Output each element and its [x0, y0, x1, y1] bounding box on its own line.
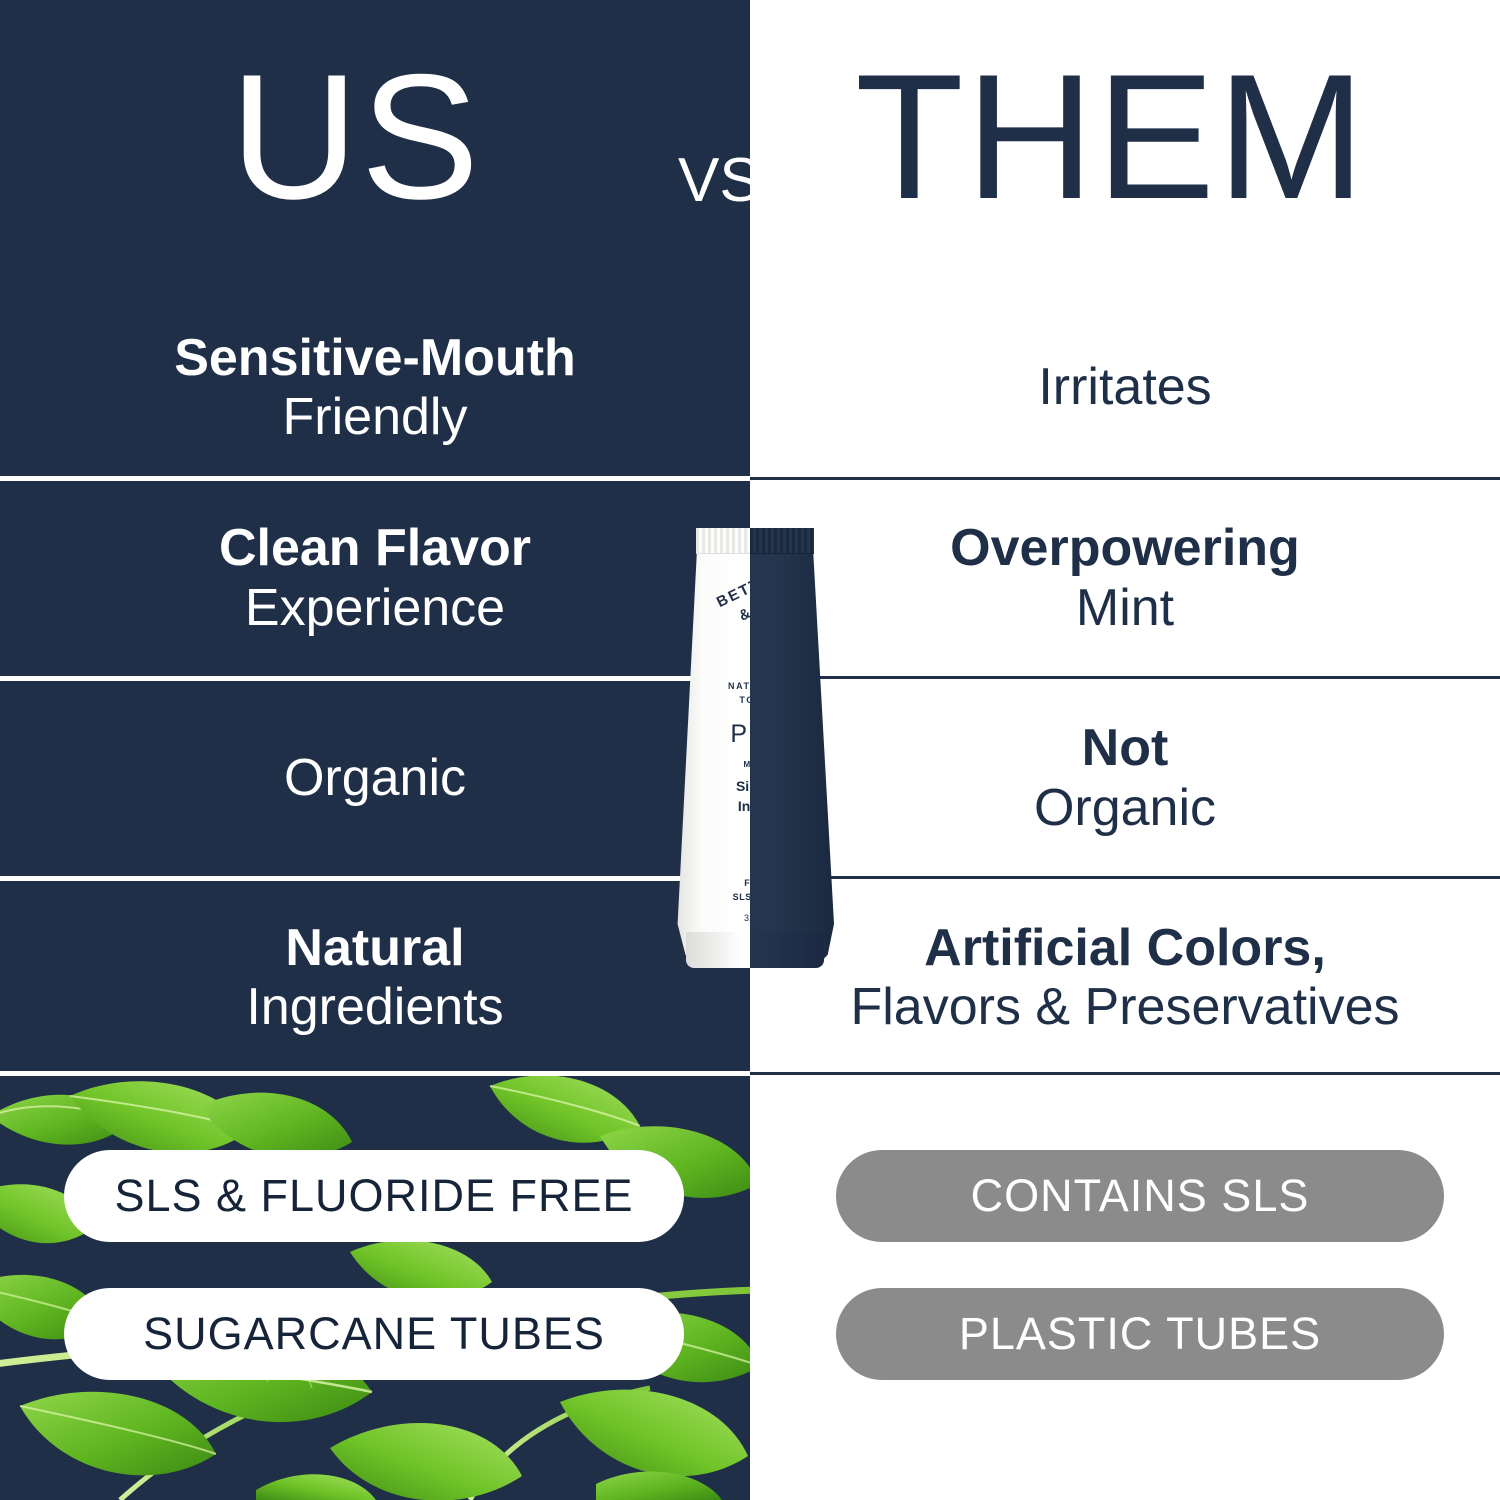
row-2-us-cell: Clean Flavor Experience	[0, 481, 750, 676]
row-separator-right	[750, 876, 1500, 879]
row-1-them-cell: Irritates	[750, 300, 1500, 476]
row-3-them-light: Organic	[1034, 779, 1216, 838]
row-separator-right	[750, 676, 1500, 679]
row-1-us-light: Friendly	[283, 388, 468, 447]
badge-label: PLASTIC TUBES	[959, 1308, 1321, 1360]
badge-plastic-tubes[interactable]: PLASTIC TUBES	[836, 1288, 1444, 1380]
row-4-us-light: Ingredients	[246, 978, 503, 1037]
header-us-title: US	[230, 48, 481, 226]
row-1-us-cell: Sensitive-Mouth Friendly	[0, 300, 750, 476]
badge-label: CONTAINS SLS	[971, 1170, 1310, 1222]
badge-label: SLS & FLUORIDE FREE	[114, 1170, 633, 1222]
badge-contains-sls[interactable]: CONTAINS SLS	[836, 1150, 1444, 1242]
row-4-us-cell: Natural Ingredients	[0, 881, 750, 1075]
row-2-them-strong: Overpowering	[950, 519, 1300, 578]
row-2-us-light: Experience	[245, 579, 505, 638]
row-4-them-cell: Artificial Colors, Flavors & Preservativ…	[750, 881, 1500, 1075]
row-2-them-light: Mint	[1076, 579, 1174, 638]
row-separator-right	[750, 477, 1500, 480]
header-them-title: THEM	[855, 48, 1367, 226]
badge-sls-fluoride-free[interactable]: SLS & FLUORIDE FREE	[64, 1150, 684, 1242]
row-3-them-cell: Not Organic	[750, 681, 1500, 876]
row-4-us-strong: Natural	[285, 919, 464, 978]
row-3-us-cell: Organic	[0, 681, 750, 876]
row-4-them-strong: Artificial Colors,	[924, 919, 1326, 978]
bottom-band: SLS & FLUORIDE FREE SUGARCANE TUBES CONT…	[0, 1076, 1500, 1500]
row-2-them-cell: Overpowering Mint	[750, 481, 1500, 676]
badge-sugarcane-tubes[interactable]: SUGARCANE TUBES	[64, 1288, 684, 1380]
row-3-us-light: Organic	[284, 749, 466, 808]
row-2-us-strong: Clean Flavor	[219, 519, 531, 578]
band-separator-right	[750, 1072, 1500, 1075]
comparison-infographic: US VS THEM Sensitive-Mouth Friendly Irri…	[0, 0, 1500, 1500]
row-1-us-strong: Sensitive-Mouth	[174, 329, 576, 388]
product-tube: BETTER & BE NATURAL TOOT PUI MAD Simpl I…	[666, 528, 844, 968]
badge-label: SUGARCANE TUBES	[143, 1308, 605, 1360]
row-4-them-light: Flavors & Preservatives	[850, 978, 1399, 1037]
header-vs-label: VS	[678, 150, 761, 212]
header: US VS THEM	[0, 0, 1500, 300]
band-separator-left	[0, 1071, 750, 1076]
comparison-row: Sensitive-Mouth Friendly Irritates	[0, 300, 1500, 476]
row-1-them-light: Irritates	[1038, 358, 1211, 417]
row-3-them-strong: Not	[1082, 719, 1169, 778]
